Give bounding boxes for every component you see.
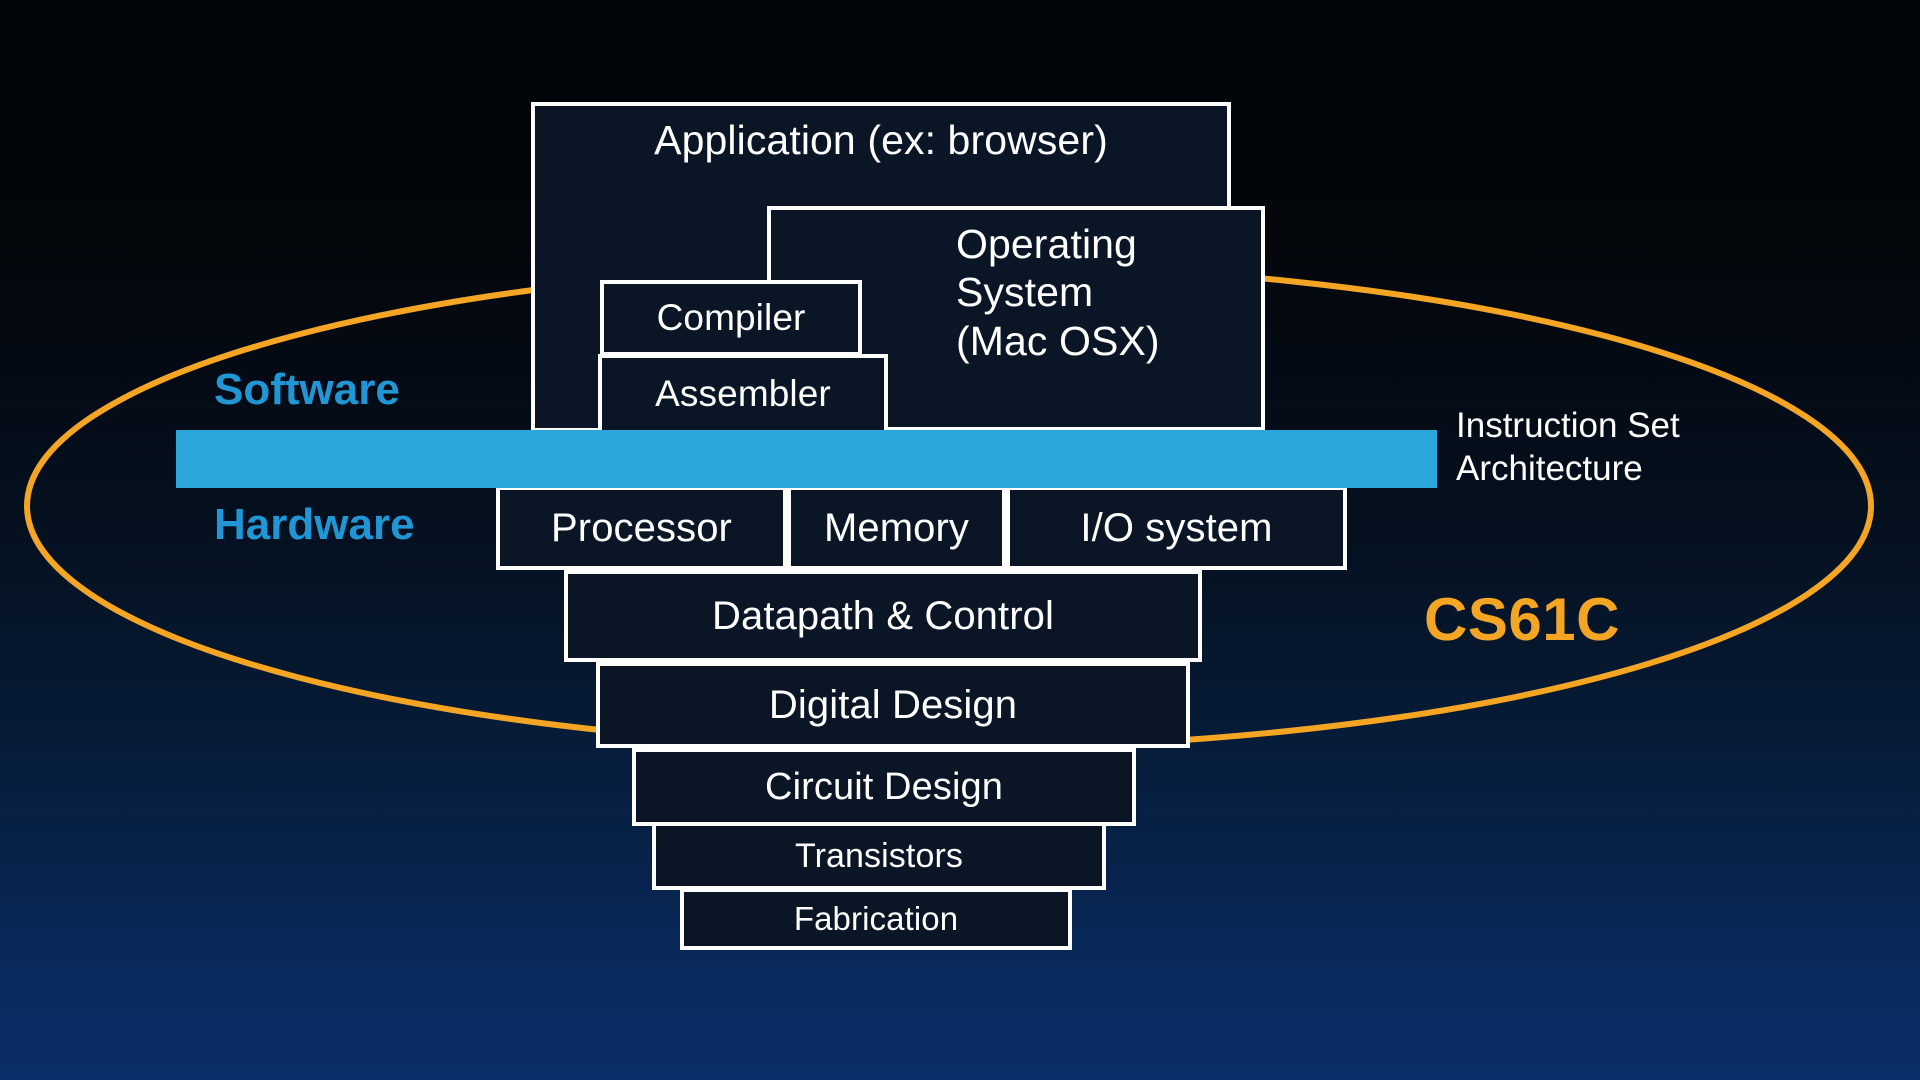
annotation-software: Software xyxy=(214,365,400,415)
layer-label-processor: Processor xyxy=(551,506,732,551)
annotation-instruction-set-architecture: Instruction Set Architecture xyxy=(1456,405,1680,490)
layer-label-io-system: I/O system xyxy=(1080,506,1272,551)
annotation-hardware: Hardware xyxy=(214,500,415,550)
layer-box-io-system[interactable]: I/O system xyxy=(1006,486,1347,570)
layer-label-assembler: Assembler xyxy=(655,373,831,414)
layer-box-datapath-control[interactable]: Datapath & Control xyxy=(564,570,1202,662)
layer-box-fabrication[interactable]: Fabrication xyxy=(680,888,1072,950)
layer-label-transistors: Transistors xyxy=(795,837,963,875)
layer-box-assembler[interactable]: Assembler xyxy=(598,354,888,434)
layer-label-memory: Memory xyxy=(824,506,969,551)
layer-label-digital-design: Digital Design xyxy=(769,683,1017,728)
layer-box-transistors[interactable]: Transistors xyxy=(652,822,1106,890)
layer-box-memory[interactable]: Memory xyxy=(787,486,1006,570)
layer-box-compiler[interactable]: Compiler xyxy=(600,280,862,356)
layer-label-fabrication: Fabrication xyxy=(794,901,958,938)
layer-label-circuit-design: Circuit Design xyxy=(765,766,1003,809)
isa-boundary-bar[interactable] xyxy=(176,430,1437,488)
layer-label-compiler: Compiler xyxy=(657,297,806,338)
layer-box-circuit-design[interactable]: Circuit Design xyxy=(632,748,1136,826)
slide-canvas: Application (ex: browser) Operating Syst… xyxy=(0,0,1920,1080)
layer-label-datapath-control: Datapath & Control xyxy=(712,594,1054,639)
layer-box-processor[interactable]: Processor xyxy=(496,486,787,570)
layer-label-operating-system: Operating System (Mac OSX) xyxy=(956,220,1160,365)
layer-label-application: Application (ex: browser) xyxy=(654,118,1108,164)
annotation-cs61c: CS61C xyxy=(1424,585,1620,654)
layer-box-digital-design[interactable]: Digital Design xyxy=(596,662,1190,748)
